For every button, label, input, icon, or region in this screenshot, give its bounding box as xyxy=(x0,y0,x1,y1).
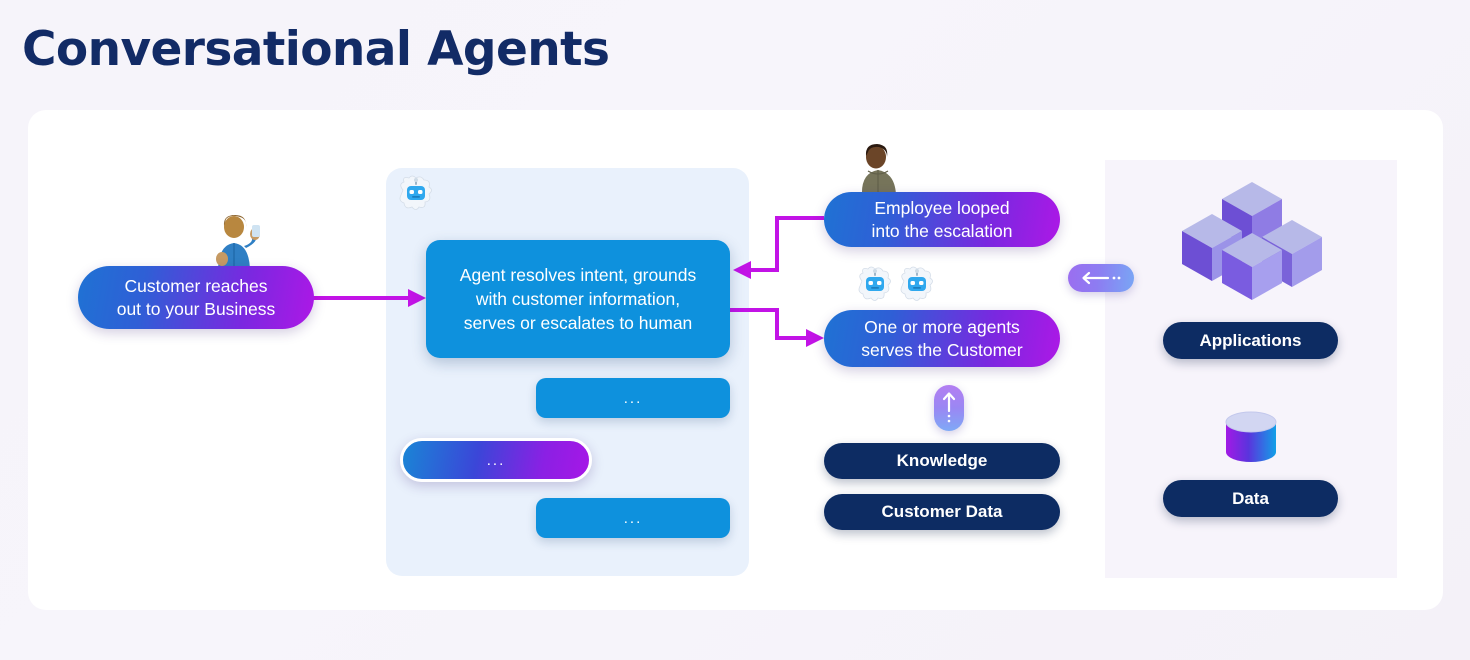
applications-pill[interactable]: Applications xyxy=(1163,322,1338,359)
applications-label: Applications xyxy=(1199,331,1301,351)
database-cylinder-icon xyxy=(1222,410,1280,468)
customer-pill-line2: out to your Business xyxy=(117,298,276,320)
agent-core-line1: Agent resolves intent, grounds xyxy=(460,263,696,287)
customer-pill-line1: Customer reaches xyxy=(125,275,268,297)
up-arrow-dotted-badge xyxy=(934,385,964,431)
chat-bar-user-1[interactable]: ... xyxy=(400,438,592,482)
robot-bot-icon xyxy=(396,174,436,214)
customer-data-label: Customer Data xyxy=(882,502,1003,522)
employee-pill[interactable]: Employee looped into the escalation xyxy=(824,192,1060,247)
employee-pill-line1: Employee looped xyxy=(874,197,1009,219)
up-arrow-icon xyxy=(941,391,957,425)
chat-bar-agent-2[interactable]: ... xyxy=(536,498,730,538)
robot-bot-icon xyxy=(855,265,895,305)
agent-core-line3: serves or escalates to human xyxy=(460,311,696,335)
customer-photo xyxy=(206,212,268,274)
employee-photo xyxy=(852,140,906,196)
knowledge-label: Knowledge xyxy=(897,451,988,471)
agents-pill[interactable]: One or more agents serves the Customer xyxy=(824,310,1060,367)
customer-pill[interactable]: Customer reaches out to your Business xyxy=(78,266,314,329)
agent-core-line2: with customer information, xyxy=(460,287,696,311)
agent-core-box[interactable]: Agent resolves intent, grounds with cust… xyxy=(426,240,730,358)
agents-pill-line2: serves the Customer xyxy=(861,339,1022,361)
data-pill[interactable]: Data xyxy=(1163,480,1338,517)
robot-bot-icon xyxy=(897,265,937,305)
isometric-cubes-icon xyxy=(1178,176,1326,306)
knowledge-pill[interactable]: Knowledge xyxy=(824,443,1060,479)
chat-bar-label: ... xyxy=(487,452,506,469)
left-arrow-dotted-badge xyxy=(1068,264,1134,292)
data-label: Data xyxy=(1232,489,1269,509)
agents-pill-line1: One or more agents xyxy=(864,316,1020,338)
chat-bar-label: ... xyxy=(624,510,643,527)
chat-bar-agent-1[interactable]: ... xyxy=(536,378,730,418)
left-arrow-icon xyxy=(1077,270,1125,286)
chat-bar-label: ... xyxy=(624,390,643,407)
page-title: Conversational Agents xyxy=(22,22,609,77)
slide-canvas: Conversational Agents xyxy=(0,0,1470,660)
employee-pill-line2: into the escalation xyxy=(871,220,1012,242)
customer-data-pill[interactable]: Customer Data xyxy=(824,494,1060,530)
